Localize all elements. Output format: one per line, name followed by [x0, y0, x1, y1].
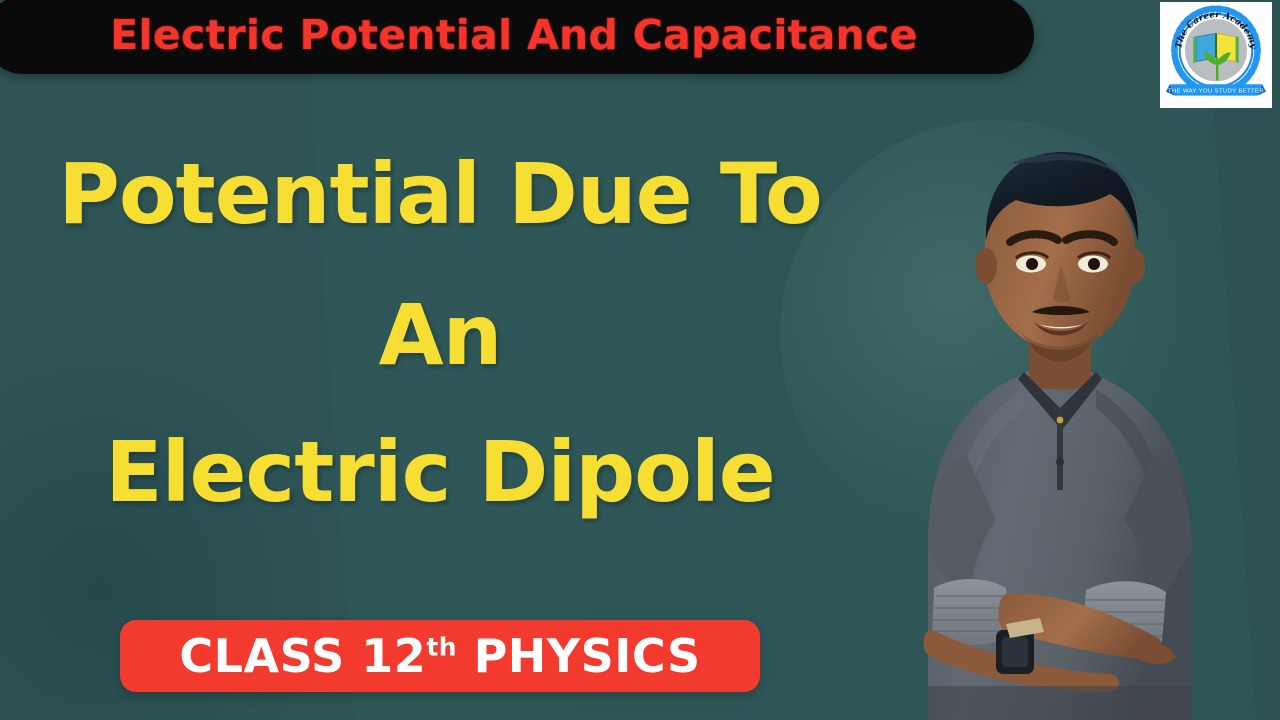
- instructor-figure: [810, 90, 1280, 720]
- class-badge-text: CLASS 12th PHYSICS: [179, 629, 700, 683]
- chapter-banner: Electric Potential And Capacitance: [0, 0, 1034, 74]
- class-badge-suffix: PHYSICS: [457, 629, 701, 683]
- instructor-photo: [810, 90, 1280, 720]
- lesson-title-line-2: An: [0, 291, 880, 380]
- chapter-title: Electric Potential And Capacitance: [100, 11, 918, 59]
- class-badge: CLASS 12th PHYSICS: [120, 620, 760, 692]
- lesson-title: Potential Due To An Electric Dipole: [0, 150, 880, 517]
- necklace-pendant: [1057, 417, 1064, 424]
- class-badge-superscript: th: [426, 633, 457, 662]
- slide-canvas: Electric Potential And Capacitance: [0, 0, 1280, 720]
- lesson-title-line-3: Electric Dipole: [0, 428, 880, 517]
- class-badge-prefix: CLASS 12: [179, 629, 426, 683]
- lesson-title-line-1: Potential Due To: [0, 150, 880, 239]
- shirt-button: [1056, 458, 1064, 466]
